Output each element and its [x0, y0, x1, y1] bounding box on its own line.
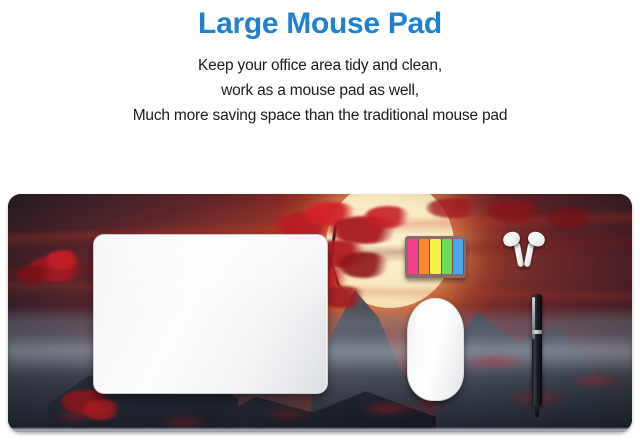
mouse-pad-photo: [8, 194, 632, 432]
sticky-notes[interactable]: [405, 236, 466, 278]
sticky-note-orange[interactable]: [419, 239, 429, 274]
pen-tip: [535, 404, 539, 417]
subtitle-line-1: Keep your office area tidy and clean,: [0, 53, 640, 78]
page-title: Large Mouse Pad: [0, 0, 640, 39]
pen[interactable]: [532, 294, 542, 417]
subtitle-line-2: work as a mouse pad as well,: [0, 78, 640, 103]
subtitle-line-3: Much more saving space than the traditio…: [0, 103, 640, 128]
sticky-note-blue[interactable]: [453, 239, 463, 274]
earbuds[interactable]: [502, 232, 546, 270]
wireless-mouse[interactable]: [407, 298, 464, 401]
mouse-highlight: [414, 304, 442, 352]
sticky-note-green[interactable]: [442, 239, 452, 274]
earbud-right-stem: [524, 243, 534, 268]
pen-ring: [532, 330, 542, 334]
product-infographic: Large Mouse Pad Keep your office area ti…: [0, 0, 640, 440]
subtitle-block: Keep your office area tidy and clean, wo…: [0, 53, 640, 128]
sticky-note-yellow[interactable]: [430, 239, 440, 274]
laptop-highlight: [94, 235, 327, 311]
mouse-pad: [8, 194, 632, 432]
header: Large Mouse Pad Keep your office area ti…: [0, 0, 640, 128]
earbud-left-stem: [514, 243, 524, 268]
laptop[interactable]: [93, 234, 328, 394]
sticky-note-pink[interactable]: [408, 239, 418, 274]
